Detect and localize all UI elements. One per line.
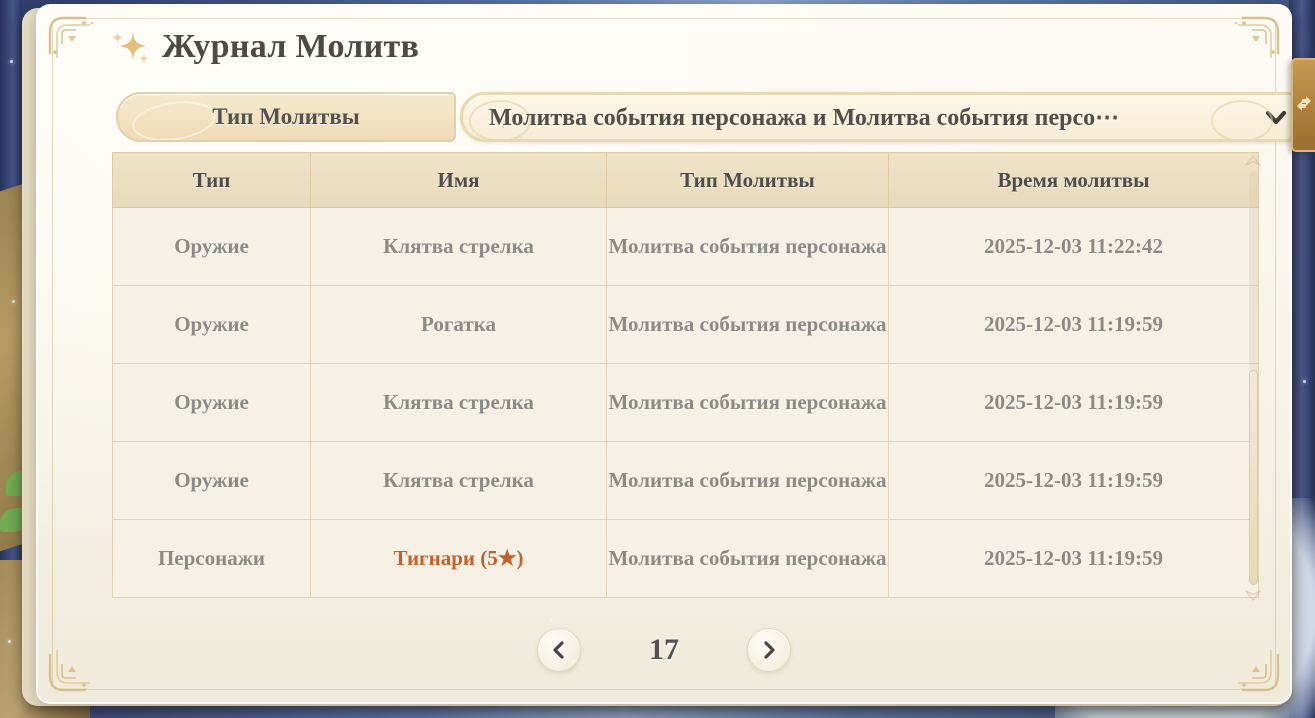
prayer-type-filter-label-text: Тип Молитвы — [212, 104, 359, 130]
cell-name: Клятва стрелка — [311, 364, 607, 442]
background-star — [12, 300, 15, 303]
current-page-number: 17 — [641, 633, 687, 667]
column-header-prayer-type[interactable]: Тип Молитвы — [607, 153, 889, 208]
table-row[interactable]: Оружие Клятва стрелка Молитва события пе… — [113, 364, 1259, 442]
prayer-type-filter-label: Тип Молитвы — [116, 92, 456, 142]
next-page-button[interactable] — [747, 628, 791, 672]
cell-name: Клятва стрелка — [311, 208, 607, 286]
cell-prayer-type: Молитва события персонажа — [607, 286, 889, 364]
cell-prayer-time: 2025-12-03 11:19:59 — [889, 364, 1259, 442]
chevron-left-icon — [549, 640, 569, 660]
expand-arrows-icon — [1296, 94, 1312, 116]
sparkle-icon — [108, 26, 150, 68]
prayer-log-panel: Журнал Молитв Тип Молитвы Молитва событи… — [36, 4, 1292, 704]
scroll-up-arrow-icon[interactable] — [1244, 154, 1262, 168]
table-scrollbar[interactable] — [1242, 154, 1264, 602]
cell-type: Оружие — [113, 208, 311, 286]
cell-prayer-time: 2025-12-03 11:19:59 — [889, 286, 1259, 364]
background-star — [1303, 380, 1306, 383]
column-header-name[interactable]: Имя — [311, 153, 607, 208]
cell-name: Клятва стрелка — [311, 442, 607, 520]
filter-bar: Тип Молитвы Молитва события персонажа и … — [116, 92, 1292, 142]
chevron-down-icon[interactable] — [1263, 104, 1289, 130]
cell-prayer-type: Молитва события персонажа — [607, 520, 889, 598]
table-body: Оружие Клятва стрелка Молитва события пе… — [113, 208, 1259, 598]
scrollbar-track[interactable] — [1249, 171, 1258, 585]
background-star — [8, 640, 11, 643]
prayer-history-table: Тип Имя Тип Молитвы Время молитвы Оружие… — [112, 152, 1259, 598]
background-star — [10, 60, 13, 63]
cell-prayer-type: Молитва события персонажа — [607, 442, 889, 520]
scroll-down-arrow-icon[interactable] — [1244, 588, 1262, 602]
sidebar-expand-tab[interactable] — [1291, 58, 1315, 152]
cell-type: Оружие — [113, 442, 311, 520]
cell-prayer-time: 2025-12-03 11:19:59 — [889, 442, 1259, 520]
corner-ornament-icon — [1204, 14, 1282, 92]
table-header-row: Тип Имя Тип Молитвы Время молитвы — [113, 153, 1259, 208]
cell-type: Оружие — [113, 364, 311, 442]
cell-type: Оружие — [113, 286, 311, 364]
cell-name: Тигнари (5★) — [311, 520, 607, 598]
scrollbar-thumb[interactable] — [1249, 370, 1258, 585]
table-row[interactable]: Оружие Рогатка Молитва события персонажа… — [113, 286, 1259, 364]
table-row[interactable]: Оружие Клятва стрелка Молитва события пе… — [113, 208, 1259, 286]
cell-name: Рогатка — [311, 286, 607, 364]
cell-prayer-type: Молитва события персонажа — [607, 364, 889, 442]
pagination-controls: 17 — [36, 628, 1292, 672]
column-header-prayer-time[interactable]: Время молитвы — [889, 153, 1259, 208]
page-title: Журнал Молитв — [162, 28, 419, 66]
table-header: Тип Имя Тип Молитвы Время молитвы — [113, 153, 1259, 208]
panel-header: Журнал Молитв — [108, 26, 419, 68]
prayer-type-dropdown[interactable]: Молитва события персонажа и Молитва собы… — [460, 92, 1292, 142]
chevron-right-icon — [759, 640, 779, 660]
cell-prayer-time: 2025-12-03 11:19:59 — [889, 520, 1259, 598]
cell-type: Персонажи — [113, 520, 311, 598]
previous-page-button[interactable] — [537, 628, 581, 672]
cell-prayer-type: Молитва события персонажа — [607, 208, 889, 286]
cell-prayer-time: 2025-12-03 11:22:42 — [889, 208, 1259, 286]
column-header-type[interactable]: Тип — [113, 153, 311, 208]
prayer-history-table-container: Тип Имя Тип Молитвы Время молитвы Оружие… — [112, 152, 1258, 602]
table-row[interactable]: Оружие Клятва стрелка Молитва события пе… — [113, 442, 1259, 520]
table-row[interactable]: Персонажи Тигнари (5★) Молитва события п… — [113, 520, 1259, 598]
prayer-type-dropdown-value: Молитва события персонажа и Молитва собы… — [489, 103, 1255, 132]
